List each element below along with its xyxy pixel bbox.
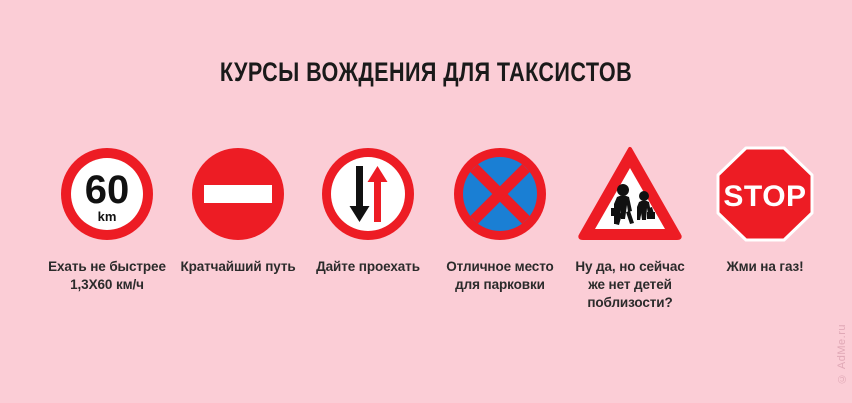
speed-limit-60-sign-icon: 60 km bbox=[37, 146, 177, 244]
sign-item-stop: STOP Жми на газ! bbox=[695, 146, 835, 276]
road-signs-row: 60 km Ехать не быстрее 1,3X60 км/ч Кратч… bbox=[0, 146, 852, 346]
sign-caption: Ехать не быстрее 1,3X60 км/ч bbox=[37, 258, 177, 294]
sign-caption: Отличное место для парковки bbox=[430, 258, 570, 294]
svg-text:km: km bbox=[98, 209, 117, 224]
sign-caption: Дайте проехать bbox=[298, 258, 438, 276]
sign-caption: Жми на газ! bbox=[695, 258, 835, 276]
children-crossing-warning-sign-icon bbox=[560, 146, 700, 244]
sign-caption: Ну да, но сейчас же нет детей поблизости… bbox=[560, 258, 700, 312]
no-entry-sign-icon bbox=[168, 146, 308, 244]
poster-canvas: КУРСЫ ВОЖДЕНИЯ ДЛЯ ТАКСИСТОВ 60 km Ехать… bbox=[0, 0, 852, 403]
sign-caption: Кратчайший путь bbox=[168, 258, 308, 276]
page-title: КУРСЫ ВОЖДЕНИЯ ДЛЯ ТАКСИСТОВ bbox=[85, 57, 767, 88]
oncoming-traffic-priority-sign-icon bbox=[298, 146, 438, 244]
svg-text:60: 60 bbox=[85, 168, 130, 212]
svg-text:STOP: STOP bbox=[723, 180, 806, 213]
sign-item-oncoming-traffic: Дайте проехать bbox=[298, 146, 438, 276]
sign-item-children-crossing: Ну да, но сейчас же нет детей поблизости… bbox=[560, 146, 700, 312]
sign-item-speed-limit: 60 km Ехать не быстрее 1,3X60 км/ч bbox=[37, 146, 177, 294]
no-stopping-sign-icon bbox=[430, 146, 570, 244]
sign-item-no-stopping: Отличное место для парковки bbox=[430, 146, 570, 294]
sign-item-no-entry: Кратчайший путь bbox=[168, 146, 308, 276]
watermark: © AdMe.ru bbox=[836, 324, 848, 385]
stop-sign-icon: STOP bbox=[695, 146, 835, 244]
